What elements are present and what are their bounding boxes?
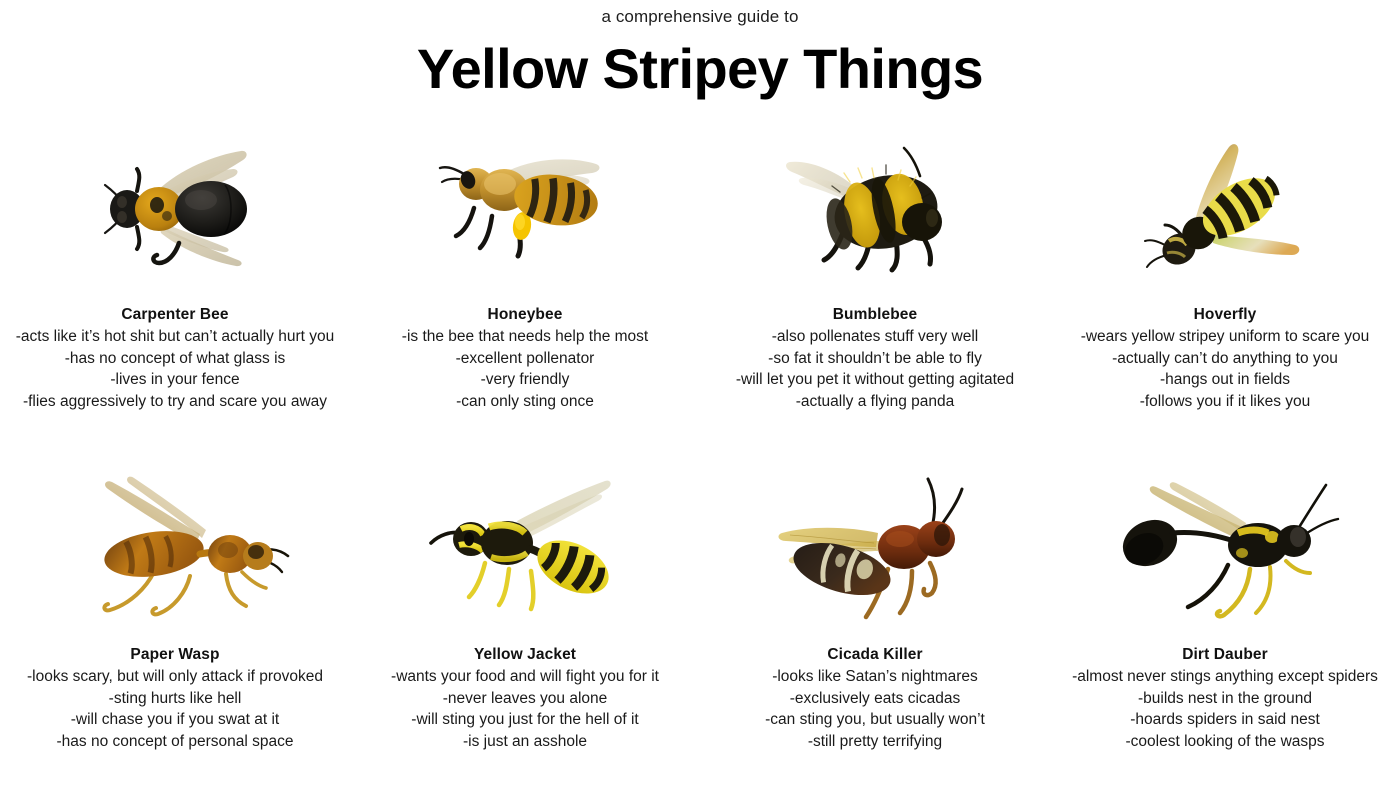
insect-name: Cicada Killer	[700, 644, 1050, 666]
insect-name: Yellow Jacket	[350, 644, 700, 666]
insect-card-yellow-jacket: Yellow Jacket -wants your food and will …	[350, 468, 700, 808]
trait-item: -has no concept of what glass is	[0, 348, 350, 370]
cicada-killer-illustration	[700, 468, 1050, 628]
trait-list: -acts like it’s hot shit but can’t actua…	[0, 326, 350, 412]
insect-card-paper-wasp: Paper Wasp -looks scary, but will only a…	[0, 468, 350, 808]
insect-card-honeybee: Honeybee -is the bee that needs help the…	[350, 128, 700, 468]
trait-item: -coolest looking of the wasps	[1050, 731, 1400, 753]
trait-item: -acts like it’s hot shit but can’t actua…	[0, 326, 350, 348]
trait-item: -sting hurts like hell	[0, 688, 350, 710]
dirt-dauber-illustration	[1050, 468, 1400, 628]
trait-item: -will chase you if you swat at it	[0, 709, 350, 731]
paper-wasp-illustration	[0, 468, 350, 628]
infographic-page: a comprehensive guide to Yellow Stripey …	[0, 0, 1400, 769]
trait-item: -wears yellow stripey uniform to scare y…	[1050, 326, 1400, 348]
trait-list: -wears yellow stripey uniform to scare y…	[1050, 326, 1400, 412]
insect-name: Hoverfly	[1050, 304, 1400, 326]
caption: Paper Wasp -looks scary, but will only a…	[0, 644, 350, 752]
caption: Bumblebee -also pollenates stuff very we…	[700, 304, 1050, 412]
trait-item: -will let you pet it without getting agi…	[700, 369, 1050, 391]
caption: Honeybee -is the bee that needs help the…	[350, 304, 700, 412]
trait-item: -lives in your fence	[0, 369, 350, 391]
yellow-jacket-illustration	[350, 468, 700, 628]
insect-name: Honeybee	[350, 304, 700, 326]
insect-card-cicada-killer: Cicada Killer -looks like Satan’s nightm…	[700, 468, 1050, 808]
trait-item: -can sting you, but usually won’t	[700, 709, 1050, 731]
trait-item: -also pollenates stuff very well	[700, 326, 1050, 348]
trait-list: -also pollenates stuff very well -so fat…	[700, 326, 1050, 412]
trait-item: -builds nest in the ground	[1050, 688, 1400, 710]
carpenter-bee-illustration	[0, 128, 350, 288]
trait-item: -exclusively eats cicadas	[700, 688, 1050, 710]
insect-name: Paper Wasp	[0, 644, 350, 666]
honeybee-illustration	[350, 128, 700, 288]
trait-item: -wants your food and will fight you for …	[350, 666, 700, 688]
trait-item: -actually can’t do anything to you	[1050, 348, 1400, 370]
insect-card-bumblebee: Bumblebee -also pollenates stuff very we…	[700, 128, 1050, 468]
trait-item: -flies aggressively to try and scare you…	[0, 391, 350, 413]
insect-row-1: Carpenter Bee -acts like it’s hot shit b…	[0, 128, 1400, 468]
trait-item: -will sting you just for the hell of it	[350, 709, 700, 731]
trait-item: -excellent pollenator	[350, 348, 700, 370]
trait-item: -is just an asshole	[350, 731, 700, 753]
trait-item: -can only sting once	[350, 391, 700, 413]
caption: Dirt Dauber -almost never stings anythin…	[1050, 644, 1400, 752]
trait-item: -looks like Satan’s nightmares	[700, 666, 1050, 688]
trait-item: -has no concept of personal space	[0, 731, 350, 753]
trait-item: -never leaves you alone	[350, 688, 700, 710]
trait-list: -wants your food and will fight you for …	[350, 666, 700, 752]
trait-item: -so fat it shouldn’t be able to fly	[700, 348, 1050, 370]
insect-grid: Carpenter Bee -acts like it’s hot shit b…	[0, 128, 1400, 808]
insect-name: Dirt Dauber	[1050, 644, 1400, 666]
trait-item: -hoards spiders in said nest	[1050, 709, 1400, 731]
trait-item: -looks scary, but will only attack if pr…	[0, 666, 350, 688]
insect-name: Bumblebee	[700, 304, 1050, 326]
insect-card-dirt-dauber: Dirt Dauber -almost never stings anythin…	[1050, 468, 1400, 808]
trait-item: -follows you if it likes you	[1050, 391, 1400, 413]
trait-item: -hangs out in fields	[1050, 369, 1400, 391]
caption: Carpenter Bee -acts like it’s hot shit b…	[0, 304, 350, 412]
caption: Yellow Jacket -wants your food and will …	[350, 644, 700, 752]
trait-item: -very friendly	[350, 369, 700, 391]
hoverfly-illustration	[1050, 128, 1400, 288]
trait-item: -is the bee that needs help the most	[350, 326, 700, 348]
trait-item: -almost never stings anything except spi…	[1050, 666, 1400, 688]
kicker-text: a comprehensive guide to	[0, 6, 1400, 28]
bumblebee-illustration	[700, 128, 1050, 288]
trait-list: -looks scary, but will only attack if pr…	[0, 666, 350, 752]
trait-item: -still pretty terrifying	[700, 731, 1050, 753]
header: a comprehensive guide to Yellow Stripey …	[0, 0, 1400, 102]
insect-card-carpenter-bee: Carpenter Bee -acts like it’s hot shit b…	[0, 128, 350, 468]
trait-list: -is the bee that needs help the most -ex…	[350, 326, 700, 412]
caption: Hoverfly -wears yellow stripey uniform t…	[1050, 304, 1400, 412]
caption: Cicada Killer -looks like Satan’s nightm…	[700, 644, 1050, 752]
trait-item: -actually a flying panda	[700, 391, 1050, 413]
insect-name: Carpenter Bee	[0, 304, 350, 326]
insect-row-2: Paper Wasp -looks scary, but will only a…	[0, 468, 1400, 808]
trait-list: -looks like Satan’s nightmares -exclusiv…	[700, 666, 1050, 752]
insect-card-hoverfly: Hoverfly -wears yellow stripey uniform t…	[1050, 128, 1400, 468]
page-title: Yellow Stripey Things	[0, 36, 1400, 102]
trait-list: -almost never stings anything except spi…	[1050, 666, 1400, 752]
